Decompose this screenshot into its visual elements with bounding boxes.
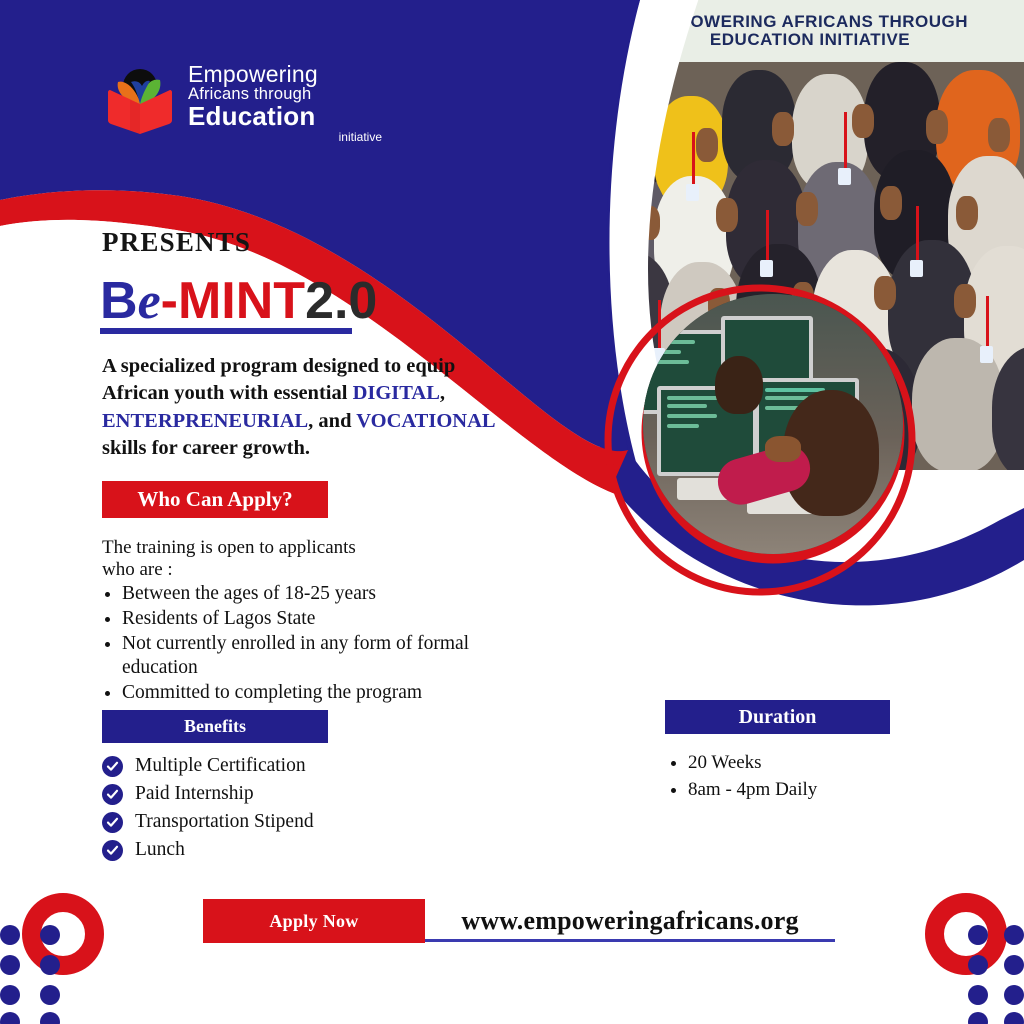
benefits-heading: Benefits <box>102 710 328 743</box>
description-sep-1: , <box>440 382 445 404</box>
list-item: Multiple Certification <box>102 752 432 780</box>
corner-dot <box>0 1012 20 1024</box>
check-circle-icon <box>102 756 123 777</box>
photo-banner-line2: EDUCATION INITIATIVE <box>710 31 910 49</box>
highlight-vocational: VOCATIONAL <box>356 410 494 432</box>
corner-dot <box>968 955 988 975</box>
title-part-mint: -MINT <box>161 272 305 330</box>
benefit-label: Paid Internship <box>135 783 254 805</box>
brand-line-1: Empowering <box>188 62 388 86</box>
benefits-list: Multiple Certification Paid Internship T… <box>102 752 432 864</box>
corner-dot <box>1004 925 1024 945</box>
corner-dot <box>40 985 60 1005</box>
list-item: Transportation Stipend <box>102 808 432 836</box>
corner-ring-right <box>925 893 1007 975</box>
corner-dot <box>968 925 988 945</box>
list-item: Lunch <box>102 836 432 864</box>
title-underline <box>100 328 352 334</box>
list-item: Paid Internship <box>102 780 432 808</box>
list-item: Committed to completing the program <box>122 681 502 705</box>
who-can-apply-heading: Who Can Apply? <box>102 481 328 518</box>
highlight-enterpreneurial: ENTERPRENEURIAL <box>102 410 308 432</box>
brand-line-3: Education <box>188 103 388 130</box>
list-item: Between the ages of 18-25 years <box>122 582 502 606</box>
title-part-e: e <box>138 273 161 330</box>
open-book-logo-icon <box>100 64 180 142</box>
corner-dot <box>968 1012 988 1024</box>
who-can-apply-list: Between the ages of 18-25 years Resident… <box>102 582 502 706</box>
duration-list: 20 Weeks 8am - 4pm Daily <box>668 750 928 803</box>
corner-dot <box>1004 955 1024 975</box>
list-item: 20 Weeks <box>688 750 928 777</box>
photo-banner-sign: EMPOWERING AFRICANS THROUGH EDUCATION IN… <box>596 0 1024 62</box>
who-intro-line-2: who are : <box>102 559 432 581</box>
apply-now-button[interactable]: Apply Now <box>203 899 425 943</box>
duration-heading: Duration <box>665 700 890 734</box>
corner-dot <box>40 955 60 975</box>
description-post: skills for career growth. <box>102 437 310 459</box>
inset-photo <box>643 294 903 554</box>
corner-dot <box>40 925 60 945</box>
benefit-label: Lunch <box>135 839 185 861</box>
corner-dot <box>0 985 20 1005</box>
corner-dot <box>968 985 988 1005</box>
corner-ring-left <box>22 893 104 975</box>
check-circle-icon <box>102 812 123 833</box>
who-intro-line-1: The training is open to applicants <box>102 537 432 559</box>
corner-dot <box>40 1012 60 1024</box>
check-circle-icon <box>102 840 123 861</box>
flyer-poster: EMPOWERING AFRICANS THROUGH EDUCATION IN… <box>0 0 1024 1024</box>
corner-dot <box>1004 985 1024 1005</box>
website-url[interactable]: www.empoweringafricans.org <box>425 899 835 943</box>
benefit-label: Transportation Stipend <box>135 811 314 833</box>
list-item: Residents of Lagos State <box>122 607 502 631</box>
description-sep-2: , and <box>308 410 356 432</box>
corner-dot <box>0 955 20 975</box>
who-can-apply-intro: The training is open to applicants who a… <box>102 537 432 582</box>
title-part-version: 2.0 <box>305 272 377 330</box>
presents-label: PRESENTS <box>102 227 251 258</box>
highlight-digital: DIGITAL <box>353 382 440 404</box>
corner-dot <box>1004 1012 1024 1024</box>
website-underline <box>425 939 835 942</box>
title-part-b: B <box>100 272 138 330</box>
brand-line-4: initiative <box>188 131 388 144</box>
program-description: A specialized program designed to equip … <box>102 353 502 462</box>
benefit-label: Multiple Certification <box>135 755 306 777</box>
program-title: Be-MINT2.0 <box>100 275 377 328</box>
brand-wordmark: Empowering Africans through Education in… <box>188 62 388 143</box>
list-item: 8am - 4pm Daily <box>688 777 928 804</box>
photo-banner-line1: EMPOWERING AFRICANS THROUGH <box>652 13 968 31</box>
list-item: Not currently enrolled in any form of fo… <box>122 632 502 680</box>
check-circle-icon <box>102 784 123 805</box>
corner-dot <box>0 925 20 945</box>
